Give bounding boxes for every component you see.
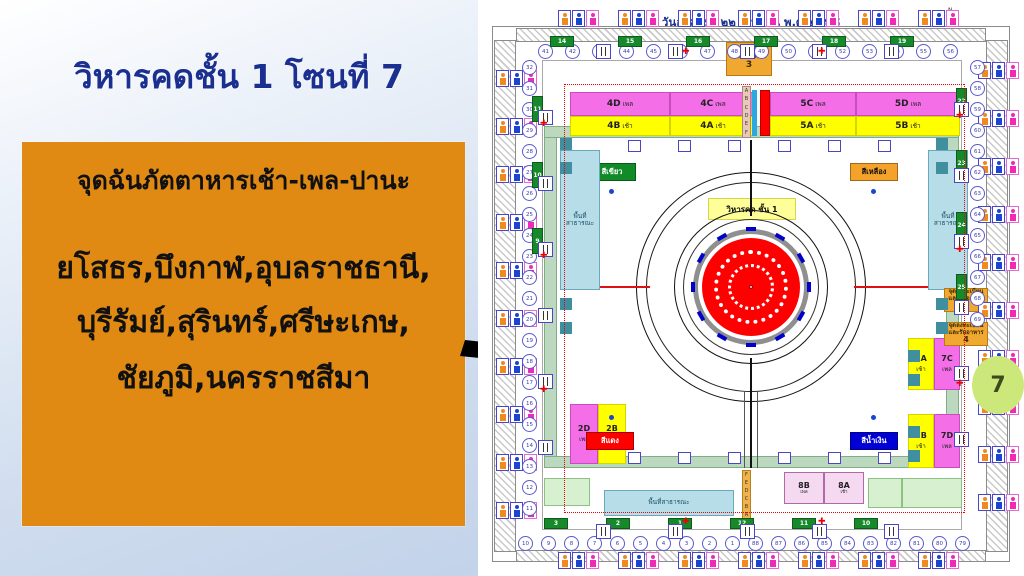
restroom-monk-icon (496, 214, 509, 231)
corridor-marker (908, 426, 920, 438)
marker-number: 81 (909, 536, 924, 551)
first-aid-icon: ✚ (540, 386, 548, 395)
corridor-marker (778, 452, 791, 464)
corridor-marker (628, 452, 641, 464)
restroom-monk-icon (918, 552, 931, 569)
stairs-icon (954, 432, 969, 447)
restroom-icon-group[interactable] (798, 552, 839, 569)
marker-number: 17 (522, 375, 537, 390)
restroom-male-icon (992, 302, 1005, 319)
info-box: จุดฉันภัตตาหารเช้า-เพล-ปานะ ยโสธร,บึงกาฬ… (22, 142, 465, 526)
marker-number: 53 (862, 44, 877, 59)
zone-5C[interactable]: 5C เพล (770, 92, 856, 116)
marker-number: 31 (522, 81, 537, 96)
restroom-icon-group[interactable] (678, 10, 719, 27)
boundary-line (564, 512, 964, 513)
restroom-male-icon (692, 552, 705, 569)
restroom-icon-group[interactable] (738, 10, 779, 27)
walkway-top (516, 28, 986, 42)
restroom-male-icon (692, 10, 705, 27)
restroom-monk-icon (618, 10, 631, 27)
restroom-monk-icon (496, 502, 509, 519)
stairs-icon (884, 44, 899, 59)
corridor-marker (908, 350, 920, 362)
restroom-icon-group[interactable] (618, 552, 659, 569)
restroom-monk-icon (678, 552, 691, 569)
marker-number: 9 (541, 536, 556, 551)
stair-tag: 15 (618, 36, 642, 47)
zone-meal: เพล (715, 99, 726, 109)
zone-meal: เช้า (622, 121, 632, 131)
restroom-male-icon (992, 110, 1005, 127)
marker-number: 84 (840, 536, 855, 551)
restroom-monk-icon (978, 494, 991, 511)
page-title: วิหารคดชั้น 1 โซนที่ 7 (8, 50, 470, 103)
stairs-icon (596, 524, 611, 539)
restroom-monk-icon (858, 10, 871, 27)
stairs-icon (884, 524, 899, 539)
marker-number: 16 (522, 396, 537, 411)
boundary-line (564, 84, 964, 85)
marker-number: 57 (970, 60, 985, 75)
marker-number: 83 (863, 536, 878, 551)
marker-number: 1 (725, 536, 740, 551)
restroom-monk-icon (496, 310, 509, 327)
zone-code: 4B (607, 121, 620, 131)
marker-number: 14 (522, 438, 537, 453)
first-aid-icon: ✚ (540, 252, 548, 261)
marker-dot (609, 189, 614, 194)
restroom-male-icon (510, 166, 523, 183)
zone-code: 4D (607, 99, 621, 109)
restroom-icon-group[interactable] (918, 10, 959, 27)
restroom-male-icon (812, 10, 825, 27)
ring-dash (691, 282, 695, 292)
zone-meal: เพล (800, 491, 807, 496)
restroom-female-icon (946, 552, 959, 569)
restroom-female-icon (1006, 110, 1019, 127)
zone-meal: เพล (942, 364, 952, 374)
stairs-icon (538, 308, 553, 323)
restroom-male-icon (510, 70, 523, 87)
stairs-icon (740, 524, 755, 539)
stairs-icon (740, 44, 755, 59)
info-line-provinces-2: บุรีรัมย์,สุรินทร์,ศรีษะเกษ, (22, 308, 465, 338)
zone-code: 7C (941, 354, 952, 363)
marker-number: 10 (518, 536, 533, 551)
zone-meal: เช้า (910, 121, 920, 131)
corridor-marker (628, 140, 641, 152)
restroom-monk-icon (496, 70, 509, 87)
first-aid-icon: ✚ (540, 120, 548, 129)
center-blue-strip (752, 90, 757, 136)
corridor-marker (878, 140, 891, 152)
first-aid-icon: ✚ (956, 380, 964, 389)
corridor-marker (678, 140, 691, 152)
first-aid-icon: ✚ (956, 112, 964, 121)
zone-code: 4C (700, 99, 713, 109)
zone-5B[interactable]: 5B เช้า (856, 116, 960, 136)
marker-number: 66 (970, 249, 985, 264)
zone-code: 4A (700, 121, 713, 131)
zone-8B[interactable]: 8B เพล (784, 472, 824, 504)
restroom-male-icon (510, 502, 523, 519)
restroom-monk-icon (558, 10, 571, 27)
marker-number: 8 (564, 536, 579, 551)
restroom-male-icon (992, 494, 1005, 511)
info-line-provinces-1: ยโสธร,บึงกาฬ,อุบลราชธานี, (22, 254, 465, 284)
stair-tag: 14 (550, 36, 574, 47)
marker-number: 79 (955, 536, 970, 551)
zone-meal: เพล (623, 99, 634, 109)
marker-number: 22 (522, 270, 537, 285)
marker-number: 55 (916, 44, 931, 59)
boundary-line (964, 84, 965, 513)
restroom-monk-icon (496, 262, 509, 279)
restroom-icon-group[interactable] (618, 10, 659, 27)
zone-4B[interactable]: 4B เช้า (570, 116, 670, 136)
green-area-bottom-left (544, 478, 590, 506)
zone-5A[interactable]: 5A เช้า (770, 116, 856, 136)
marker-number: 6 (610, 536, 625, 551)
restroom-male-icon (752, 552, 765, 569)
stair-tag: 10 (854, 518, 878, 529)
restroom-female-icon (766, 10, 779, 27)
corridor-marker (936, 298, 948, 310)
marker-number: 62 (970, 165, 985, 180)
stairs-icon (668, 524, 683, 539)
restroom-monk-icon (618, 552, 631, 569)
restroom-female-icon (586, 10, 599, 27)
marker-number: 80 (932, 536, 947, 551)
marker-number: 29 (522, 123, 537, 138)
restroom-male-icon (992, 446, 1005, 463)
marker-dot (871, 415, 876, 420)
marker-number: 67 (970, 270, 985, 285)
zone-code: 5A (800, 121, 813, 131)
restroom-male-icon (572, 10, 585, 27)
restroom-male-icon (572, 552, 585, 569)
restroom-icon-group[interactable] (558, 552, 599, 569)
marker-number: 65 (970, 228, 985, 243)
marker-number: 11 (522, 501, 537, 516)
first-aid-icon: ✚ (682, 48, 690, 57)
restroom-monk-icon (738, 10, 751, 27)
restroom-male-icon (992, 206, 1005, 223)
corridor-marker (560, 298, 572, 310)
axis-corridor-bottom (744, 392, 758, 468)
zone-meal: เช้า (916, 364, 926, 374)
restroom-male-icon (632, 552, 645, 569)
restroom-female-icon (1006, 62, 1019, 79)
restroom-monk-icon (798, 552, 811, 569)
restroom-monk-icon (496, 406, 509, 423)
corridor-marker (828, 140, 841, 152)
restroom-icon-group[interactable] (798, 10, 839, 27)
restroom-female-icon (826, 552, 839, 569)
restroom-monk-icon (496, 166, 509, 183)
restroom-male-icon (992, 254, 1005, 271)
restroom-female-icon (586, 552, 599, 569)
restroom-female-icon (946, 10, 959, 27)
restroom-male-icon (872, 552, 885, 569)
marker-number: 2 (702, 536, 717, 551)
restroom-monk-icon (978, 446, 991, 463)
walkway-left (494, 40, 516, 552)
corridor-marker (560, 322, 572, 334)
ring-dash (746, 343, 756, 347)
marker-number: 12 (522, 480, 537, 495)
marker-number: 87 (771, 536, 786, 551)
marker-number: 25 (522, 207, 537, 222)
restroom-icon-group[interactable] (738, 552, 779, 569)
marker-number: 20 (522, 312, 537, 327)
restroom-male-icon (510, 406, 523, 423)
axis-horizontal-right (854, 286, 934, 288)
legend-red: สีแดง (586, 432, 634, 450)
restroom-icon-group[interactable] (858, 552, 899, 569)
legend-yellow: สีเหลือง (850, 163, 898, 181)
marker-number: 50 (781, 44, 796, 59)
stupa-core (749, 285, 753, 289)
restroom-female-icon (1006, 254, 1019, 271)
stair-tag: 16 (686, 36, 710, 47)
stairs-icon (668, 44, 683, 59)
zone-code: 7D (941, 431, 953, 440)
first-aid-icon: ✚ (682, 518, 690, 527)
zone-8A[interactable]: 8A เช้า (824, 472, 864, 504)
stairs-icon (538, 440, 553, 455)
restroom-icon-group[interactable] (558, 10, 599, 27)
marker-number: 56 (943, 44, 958, 59)
corridor-marker (778, 140, 791, 152)
restroom-male-icon (752, 10, 765, 27)
corridor-marker (936, 162, 948, 174)
corridor-marker (678, 452, 691, 464)
restroom-male-icon (932, 552, 945, 569)
marker-number: 18 (522, 354, 537, 369)
zone-code: 8A (838, 481, 850, 490)
center-red-strip (760, 90, 770, 136)
zone-meal: เพล (815, 99, 826, 109)
zone-code: 5B (895, 121, 908, 131)
first-aid-icon: ✚ (956, 246, 964, 255)
stair-tag: 25 (956, 274, 967, 300)
restroom-female-icon (1006, 158, 1019, 175)
marker-number: 45 (646, 44, 661, 59)
zone-code: 5D (895, 99, 909, 109)
restroom-monk-icon (496, 358, 509, 375)
marker-number: 69 (970, 312, 985, 327)
marker-dot (871, 189, 876, 194)
restroom-male-icon (812, 552, 825, 569)
marker-number: 63 (970, 186, 985, 201)
restroom-female-icon (706, 10, 719, 27)
marker-number: 61 (970, 144, 985, 159)
corridor-marker (908, 450, 920, 462)
info-line-heading: จุดฉันภัตตาหารเช้า-เพล-ปานะ (22, 168, 465, 193)
info-line-provinces-3: ชัยภูมิ,นครราชสีมา (22, 364, 465, 394)
restroom-male-icon (510, 454, 523, 471)
restroom-female-icon (886, 10, 899, 27)
restroom-female-icon (1006, 446, 1019, 463)
marker-number: 32 (522, 60, 537, 75)
corridor-marker (908, 374, 920, 386)
restroom-male-icon (510, 118, 523, 135)
marker-number: 19 (522, 333, 537, 348)
floor-plan-map: วันอังคารที่ ๒๒ เมษายน พ.ศ.๒๕๖๘ NS WE 4D… (478, 0, 1024, 576)
marker-number: 59 (970, 102, 985, 117)
stair-tag: 17 (754, 36, 778, 47)
stairs-icon (596, 44, 611, 59)
restroom-female-icon (1006, 302, 1019, 319)
marker-number: 68 (970, 291, 985, 306)
zone-meal: เพล (942, 441, 952, 451)
restroom-monk-icon (918, 10, 931, 27)
zone-code: 8B (798, 481, 810, 490)
marker-number: 60 (970, 123, 985, 138)
restroom-male-icon (992, 62, 1005, 79)
marker-number: 15 (522, 417, 537, 432)
restroom-female-icon (706, 552, 719, 569)
marker-number: 64 (970, 207, 985, 222)
boundary-line (564, 84, 565, 513)
stair-tag: 3 (544, 518, 568, 529)
restroom-female-icon (826, 10, 839, 27)
restroom-icon-group[interactable] (678, 552, 719, 569)
corridor-marker (828, 452, 841, 464)
restroom-female-icon (886, 552, 899, 569)
restroom-male-icon (632, 10, 645, 27)
first-aid-icon: ✚ (818, 48, 826, 57)
restroom-icon-group[interactable] (978, 446, 1019, 463)
restroom-male-icon (992, 158, 1005, 175)
axis-vertical-top (750, 140, 752, 216)
zone-meal: เช้า (840, 491, 847, 496)
restroom-female-icon (1006, 494, 1019, 511)
stairs-icon (954, 168, 969, 183)
corridor-marker (878, 452, 891, 464)
marker-number: 21 (522, 291, 537, 306)
marker-number: 86 (794, 536, 809, 551)
zone-meal: เช้า (715, 121, 725, 131)
zone-number-badge[interactable]: 7 (972, 356, 1024, 414)
marker-number: 13 (522, 459, 537, 474)
restroom-monk-icon (558, 552, 571, 569)
corridor-marker (936, 322, 948, 334)
restroom-male-icon (872, 10, 885, 27)
corridor-marker (936, 138, 948, 150)
zone-5D[interactable]: 5D เพล (856, 92, 960, 116)
restroom-female-icon (766, 552, 779, 569)
restroom-monk-icon (858, 552, 871, 569)
corridor-marker (728, 452, 741, 464)
corridor-marker (560, 162, 572, 174)
zone-meal: เช้า (815, 121, 825, 131)
restroom-icon-group[interactable] (858, 10, 899, 27)
restroom-female-icon (646, 552, 659, 569)
marker-number: 26 (522, 186, 537, 201)
corridor-marker (560, 138, 572, 150)
green-area-bottom-right-2 (902, 478, 962, 508)
ring-dash (746, 227, 756, 231)
restroom-monk-icon (496, 118, 509, 135)
zone-4D[interactable]: 4D เพล (570, 92, 670, 116)
restroom-monk-icon (798, 10, 811, 27)
registration-number: 3 (746, 61, 752, 71)
zone-code: 5C (800, 99, 813, 109)
center-letter-strip-top: ABCDEF (742, 86, 751, 138)
corridor-marker (728, 140, 741, 152)
slide-root: วิหารคดชั้น 1 โซนที่ 7 จุดฉันภัตตาหารเช้… (0, 0, 1024, 576)
restroom-female-icon (646, 10, 659, 27)
restroom-monk-icon (496, 454, 509, 471)
restroom-monk-icon (678, 10, 691, 27)
left-info-panel: วิหารคดชั้น 1 โซนที่ 7 จุดฉันภัตตาหารเช้… (0, 0, 478, 576)
restroom-icon-group[interactable] (978, 494, 1019, 511)
green-area-bottom-right (868, 478, 902, 508)
zone-meal: เพล (911, 99, 922, 109)
marker-number: 58 (970, 81, 985, 96)
first-aid-icon: ✚ (818, 518, 826, 527)
stairs-icon (538, 176, 553, 191)
restroom-female-icon (1006, 206, 1019, 223)
restroom-male-icon (932, 10, 945, 27)
marker-dot (609, 415, 614, 420)
stairs-icon (954, 300, 969, 315)
legend-blue: สีน้ำเงิน (850, 432, 898, 450)
ring-dash (807, 282, 811, 292)
restroom-icon-group[interactable] (918, 552, 959, 569)
marker-number: 28 (522, 144, 537, 159)
restroom-monk-icon (738, 552, 751, 569)
marker-number: 5 (633, 536, 648, 551)
restroom-male-icon (510, 214, 523, 231)
